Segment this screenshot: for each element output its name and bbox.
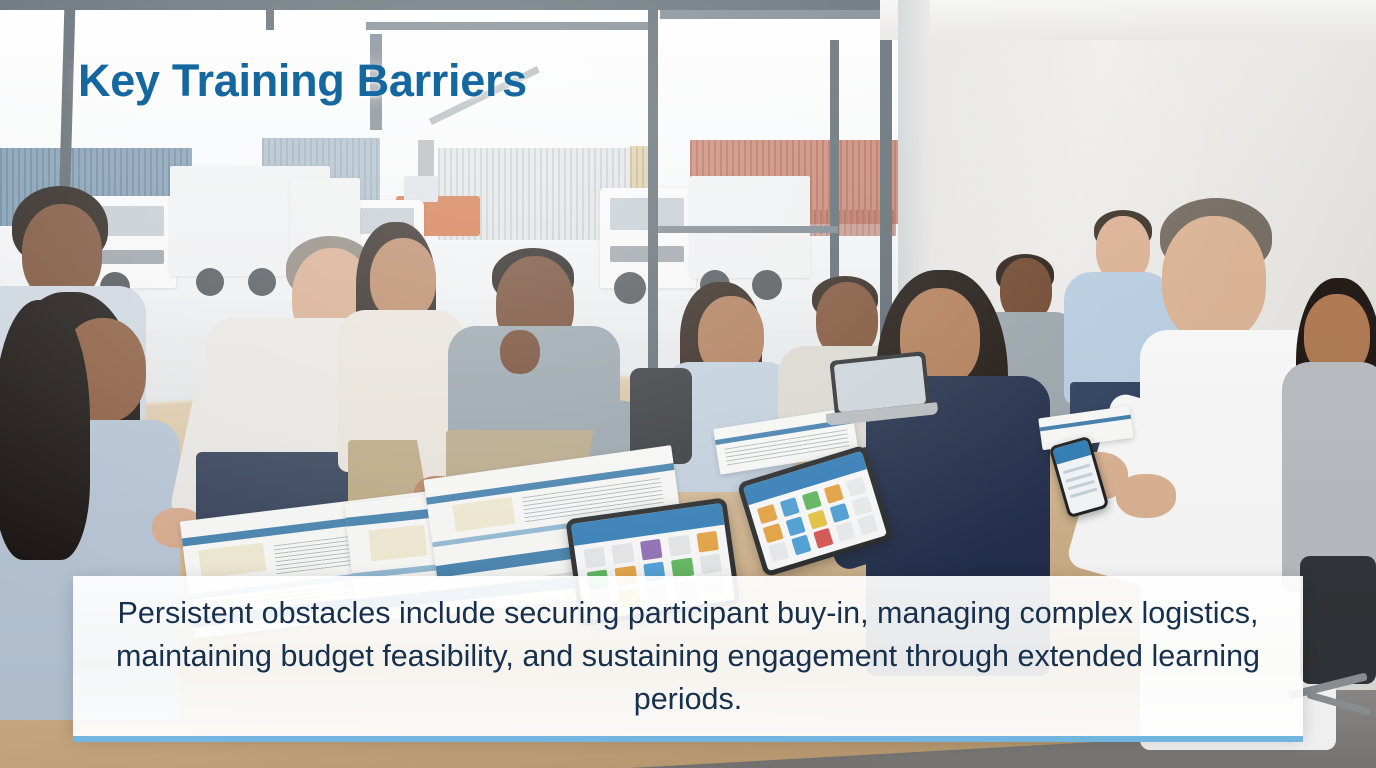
window-mullion [266, 0, 274, 30]
window-mullion [648, 0, 658, 430]
window-transom [366, 22, 652, 30]
office-chair [1300, 556, 1376, 684]
caption-text: Persistent obstacles include securing pa… [73, 592, 1303, 721]
caption-accent-bar [73, 736, 1303, 742]
presentation-slide: Key Training Barriers Persistent obstacl… [0, 0, 1376, 768]
window-transom [660, 10, 910, 19]
caption-panel: Persistent obstacles include securing pa… [73, 576, 1303, 736]
window-transom [658, 226, 838, 233]
page-title: Key Training Barriers [78, 55, 527, 107]
ceiling [880, 0, 1376, 40]
